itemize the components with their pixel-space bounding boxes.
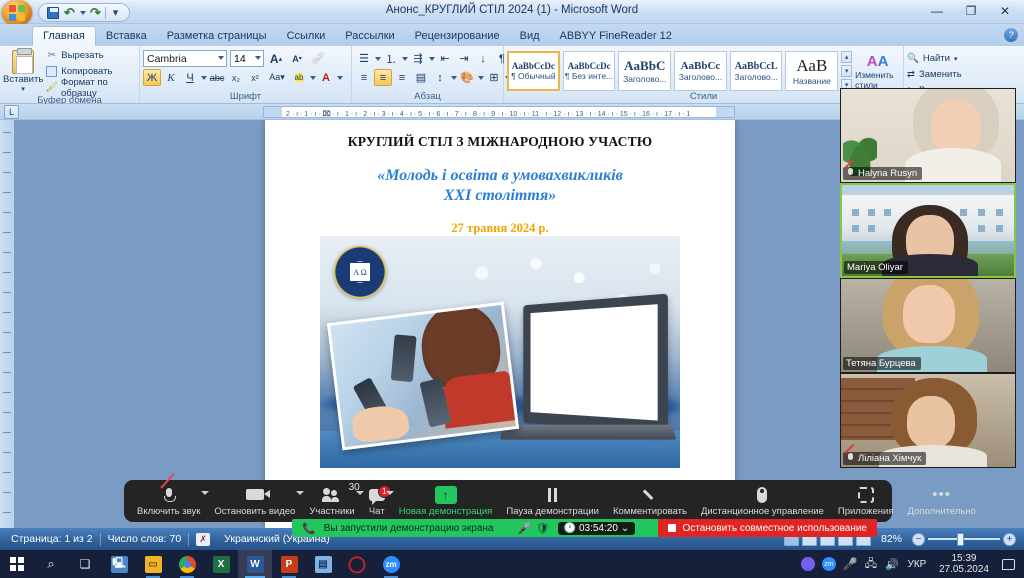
zoom-out-button[interactable]: − xyxy=(912,533,925,546)
style-title[interactable]: АаВ Название xyxy=(785,51,838,91)
ribbon-group-paragraph: ☰ ⒈ ⇶ ⇤ ⇥ ↓ ¶ ≡ ≡ ≡ xyxy=(352,46,504,103)
borders-icon[interactable]: ⊞ xyxy=(485,69,503,86)
taskbar-app-zoom[interactable]: zm xyxy=(374,550,408,578)
screen: ↶ ↷ ▾ Анонс_КРУГЛИЙ СТІЛ 2024 (1) - Micr… xyxy=(0,0,1024,578)
laptop-illustration xyxy=(506,300,674,450)
zoom-button-label: Участники xyxy=(309,506,354,517)
tab-mailings[interactable]: Рассылки xyxy=(335,27,404,46)
font-name-combo[interactable]: Cambria xyxy=(143,50,227,67)
participant-name: Mariya Oliyar xyxy=(847,262,903,273)
document-image[interactable]: A Ω xyxy=(320,236,680,468)
zoom-button-label: Чат xyxy=(369,506,385,517)
font-color-chevron-down-icon[interactable] xyxy=(336,69,343,86)
zoom-tray-icon[interactable]: zm xyxy=(820,550,838,578)
ruler-ticks: 2 · ı · 1 · ı · ⌧ · ı · 1 · ı · 2 · ı · … xyxy=(264,110,734,118)
help-icon[interactable]: ? xyxy=(1004,28,1018,42)
participant-tile-liliana-khimchuk[interactable]: Ліліана Хімчук xyxy=(840,373,1016,468)
face xyxy=(907,396,955,448)
styles-scroll-up-icon[interactable]: ▴ xyxy=(841,51,852,63)
change-styles-button[interactable]: AA Изменить стили xyxy=(855,53,900,90)
change-styles-label: Изменить стили xyxy=(855,70,900,90)
font-size-combo[interactable]: 14 xyxy=(230,50,264,67)
shield-icon[interactable]: 🛡 xyxy=(534,522,552,535)
remote-control-icon xyxy=(757,486,767,504)
align-right-icon[interactable]: ≡ xyxy=(393,69,411,86)
superscript-button[interactable]: x² xyxy=(246,69,264,86)
participant-name-badge: Ліліана Хімчук xyxy=(843,452,926,465)
subscript-button[interactable]: x₂ xyxy=(227,69,245,86)
participant-tile-mariya-oliyar[interactable]: Mariya Oliyar xyxy=(840,183,1016,278)
share-timer[interactable]: 🕐 03:54:20 ⌄ xyxy=(558,522,636,535)
ribbon-group-clipboard: Вставить ▾ ✂ Вырезать Копировать xyxy=(0,46,140,103)
copy-label: Копировать xyxy=(61,66,112,77)
replace-icon: ⇄ xyxy=(907,69,915,80)
subtitle-line-1: «Молодь і освіта в умовахвикликів xyxy=(377,167,623,184)
screen-share-status-bar: 📞 Вы запустили демонстрацию экрана 🎤 🛡 🕐… xyxy=(292,519,877,537)
participant-name-badge: Mariya Oliyar xyxy=(844,261,908,274)
highlight-color-button[interactable]: ab xyxy=(290,69,308,86)
zoom-button-apps[interactable]: Приложения xyxy=(831,480,901,522)
zoom-button-pause-share[interactable]: Пауза демонстрации xyxy=(499,480,606,522)
format-painter-button[interactable]: 🖌 Формат по образцу xyxy=(45,80,136,95)
language-indicator[interactable]: УКР xyxy=(904,550,930,578)
participants-icon xyxy=(322,486,342,504)
style-no-spacing[interactable]: AaBbCcDc ¶ Без инте... xyxy=(563,51,616,91)
zoom-button-unmute[interactable]: Включить звук xyxy=(130,480,207,522)
participant-name-badge: Тетяна Бурцева xyxy=(843,357,921,370)
style-sample: AaBbCcDc xyxy=(568,61,611,71)
font-name-chevron-down-icon xyxy=(218,56,224,60)
font-size-chevron-down-icon xyxy=(255,56,261,60)
document-date: 27 травня 2024 р. xyxy=(265,221,735,236)
zoom-in-button[interactable]: + xyxy=(1003,533,1016,546)
line-spacing-icon[interactable]: ↕ xyxy=(431,69,449,86)
align-left-icon[interactable]: ≡ xyxy=(355,69,373,86)
style-name: Заголово... xyxy=(623,74,666,84)
ribbon-tab-bar: Главная Вставка Разметка страницы Ссылки… xyxy=(0,24,1024,46)
scissors-icon: ✂ xyxy=(45,49,58,62)
document-subtitle: «Молодь і освіта в умовахвикликів XXI ст… xyxy=(265,166,735,205)
paste-button[interactable]: Вставить ▾ xyxy=(3,50,43,93)
participant-name: Halyna Rusyn xyxy=(858,168,917,179)
photo-card-smartphones xyxy=(327,302,519,451)
taskbar-app-word[interactable]: W xyxy=(238,550,272,578)
paragraph-group-title: Абзац xyxy=(355,91,500,103)
stop-share-label: Остановить совместное использование xyxy=(682,523,867,534)
bullet-list-icon[interactable]: ☰ xyxy=(355,50,373,67)
font-color-button[interactable]: A xyxy=(317,69,335,86)
find-label: Найти xyxy=(923,53,950,64)
multilevel-chevron-down-icon[interactable] xyxy=(428,50,435,67)
shrink-font-button[interactable]: A▾ xyxy=(288,50,306,67)
tab-view[interactable]: Вид xyxy=(510,27,550,46)
styles-scroll-down-icon[interactable]: ▾ xyxy=(841,65,852,77)
clock-date: 27.05.2024 xyxy=(939,564,989,575)
zoom-button-more[interactable]: ••• Дополнительно xyxy=(900,480,982,522)
maximize-button[interactable]: ❐ xyxy=(954,0,988,22)
taskbar-app-chrome[interactable] xyxy=(170,550,204,578)
taskbar-app-notepad[interactable]: ▤ xyxy=(306,550,340,578)
participant-video-strip: Halyna Rusyn Mariya Oliyar xyxy=(840,88,1016,468)
tab-review[interactable]: Рецензирование xyxy=(405,27,510,46)
find-button[interactable]: 🔍 Найти▾ xyxy=(907,51,957,66)
tab-insert[interactable]: Вставка xyxy=(96,27,157,46)
zoom-button-label: Приложения xyxy=(838,506,894,517)
clock-icon: 🕐 xyxy=(564,523,576,534)
notification-icon[interactable] xyxy=(998,550,1018,578)
style-normal[interactable]: AaBbCcDc ¶ Обычный xyxy=(507,51,560,91)
microphone-muted-icon xyxy=(164,486,174,504)
share-screen-icon: ↑ xyxy=(435,486,457,504)
style-sample: AaBbC xyxy=(624,58,665,74)
style-name: Название xyxy=(793,76,831,86)
styles-scroll[interactable]: ▴ ▾ ▾ xyxy=(841,51,852,91)
face xyxy=(903,285,955,343)
more-dots-icon: ••• xyxy=(932,486,951,504)
system-tray: zm 🎤 🖧 🔊 УКР 15:39 27.05.2024 xyxy=(799,550,1024,578)
clock-time: 15:39 xyxy=(939,553,989,564)
zoom-slider-handle[interactable] xyxy=(957,533,964,546)
font-size-value: 14 xyxy=(234,53,246,65)
zoom-button-chat[interactable]: 1 Чат xyxy=(362,480,392,522)
vertical-ruler xyxy=(0,120,14,528)
replace-label: Заменить xyxy=(919,69,962,80)
subtitle-line-2: XXI століття» xyxy=(444,187,557,204)
task-view-icon[interactable]: ❏ xyxy=(68,550,102,578)
style-heading-2[interactable]: AaBbCc Заголово... xyxy=(674,51,727,91)
style-name: Заголово... xyxy=(734,72,777,82)
align-center-icon[interactable]: ≡ xyxy=(374,69,392,86)
change-case-button[interactable]: Aa▾ xyxy=(265,69,289,86)
taskbar-app-remote-desktop[interactable]: 🖳 xyxy=(102,550,136,578)
style-heading-1[interactable]: AaBbC Заголово... xyxy=(618,51,671,91)
stop-share-button[interactable]: Остановить совместное использование xyxy=(658,519,877,537)
zoom-button-label: Дополнительно xyxy=(907,506,975,517)
style-sample: AaBbCcL xyxy=(735,61,778,72)
participant-tile-halyna-rusyn[interactable]: Halyna Rusyn xyxy=(840,88,1016,183)
timer-chevron-down-icon[interactable]: ⌄ xyxy=(621,523,629,534)
zoom-button-label: Включить звук xyxy=(137,506,200,517)
zoom-slider[interactable] xyxy=(928,533,1000,546)
taskbar-app-file-explorer[interactable]: ▭ xyxy=(136,550,170,578)
copy-icon xyxy=(45,65,58,78)
shading-icon[interactable]: 🎨 xyxy=(458,69,476,86)
face xyxy=(931,99,981,155)
zoom-button-label: Остановить видео xyxy=(214,506,295,517)
page-indicator[interactable]: Страница: 1 из 2 xyxy=(4,533,100,545)
style-name: Заголово... xyxy=(679,72,722,82)
network-icon[interactable]: 🖧 xyxy=(862,550,880,578)
university-emblem-icon: A Ω xyxy=(334,246,386,298)
numbered-list-icon[interactable]: ⒈ xyxy=(382,50,400,67)
spellcheck-icon[interactable]: ✗ xyxy=(189,533,217,546)
viber-icon[interactable] xyxy=(799,550,817,578)
taskbar-app-powerpoint[interactable]: P xyxy=(272,550,306,578)
window-controls: — ❐ ✕ xyxy=(920,0,1022,24)
line-spacing-chevron-down-icon[interactable] xyxy=(450,69,457,86)
document-page[interactable]: КРУГЛИЙ СТІЛ З МІЖНАРОДНОЮ УЧАСТЮ «Молод… xyxy=(265,120,735,528)
zoom-button-participants[interactable]: Участники 30 xyxy=(302,480,361,522)
microphone-muted-icon xyxy=(846,453,855,464)
zoom-level[interactable]: 82% xyxy=(874,533,909,545)
share-status-message: Вы запустили демонстрацию экрана xyxy=(324,523,516,534)
font-group-title: Шрифт xyxy=(143,91,348,103)
participant-name-badge: Halyna Rusyn xyxy=(843,167,922,180)
multilevel-list-icon[interactable]: ⇶ xyxy=(409,50,427,67)
phone-icon: 📞 xyxy=(292,522,324,535)
cut-button[interactable]: ✂ Вырезать xyxy=(45,48,136,63)
style-name: ¶ Обычный xyxy=(511,71,556,81)
grow-font-button[interactable]: A▴ xyxy=(267,50,285,67)
tab-page-layout[interactable]: Разметка страницы xyxy=(157,27,277,46)
zoom-button-stop-video[interactable]: Остановить видео xyxy=(207,480,302,522)
minimize-button[interactable]: — xyxy=(920,0,954,22)
window-title: Анонс_КРУГЛИЙ СТІЛ 2024 (1) - Microsoft … xyxy=(0,4,1024,16)
increase-indent-icon[interactable]: ⇥ xyxy=(455,50,473,67)
chat-icon: 1 xyxy=(369,486,385,504)
cut-label: Вырезать xyxy=(61,50,103,61)
numbering-chevron-down-icon[interactable] xyxy=(401,50,408,67)
highlight-chevron-down-icon[interactable] xyxy=(309,69,316,86)
zoom-meeting-toolbar: Включить звук Остановить видео Участники… xyxy=(124,480,892,522)
microphone-icon[interactable]: 🎤 xyxy=(516,522,534,535)
brush-icon: 🖌 xyxy=(45,81,58,94)
taskbar-app-opera[interactable]: ◯ xyxy=(340,550,374,578)
taskbar-app-excel[interactable]: X xyxy=(204,550,238,578)
windows-taskbar: ⌕ ❏ 🖳 ▭ X W P xyxy=(0,550,1024,578)
font-name-value: Cambria xyxy=(147,53,187,65)
camera-icon xyxy=(246,486,264,504)
strikethrough-button[interactable]: abc xyxy=(208,69,226,86)
bold-button[interactable]: Ж xyxy=(143,69,161,86)
style-sample: AaBbCcDc xyxy=(512,61,555,71)
volume-icon[interactable]: 🔊 xyxy=(883,550,901,578)
close-button[interactable]: ✕ xyxy=(988,0,1022,22)
tab-home[interactable]: Главная xyxy=(32,26,96,46)
microphone-tray-icon[interactable]: 🎤 xyxy=(841,550,859,578)
justify-icon[interactable]: ▤ xyxy=(412,69,430,86)
zoom-button-annotate[interactable]: Комментировать xyxy=(606,480,694,522)
style-heading-3[interactable]: AaBbCcL Заголово... xyxy=(730,51,783,91)
emblem-letters: A Ω xyxy=(349,262,371,282)
participant-name: Тетяна Бурцева xyxy=(846,358,916,369)
tab-abbyy-finereader[interactable]: ABBYY FineReader 12 xyxy=(550,27,682,46)
search-icon[interactable]: ⌕ xyxy=(34,550,68,578)
style-sample: AaBbCc xyxy=(681,60,721,72)
zoom-button-label: Пауза демонстрации xyxy=(506,506,599,517)
windows-start-icon[interactable] xyxy=(0,550,34,578)
zoom-button-label: Новая демонстрация xyxy=(399,506,493,517)
shading-chevron-down-icon[interactable] xyxy=(477,69,484,86)
bullet-chevron-down-icon[interactable] xyxy=(374,50,381,67)
underline-button[interactable]: Ч xyxy=(181,69,199,86)
pause-icon xyxy=(548,486,557,504)
zoom-button-new-share[interactable]: ↑ Новая демонстрация xyxy=(392,480,500,522)
tab-references[interactable]: Ссылки xyxy=(277,27,336,46)
title-bar: ↶ ↷ ▾ Анонс_КРУГЛИЙ СТІЛ 2024 (1) - Micr… xyxy=(0,0,1024,24)
italic-button[interactable]: К xyxy=(162,69,180,86)
binoculars-icon: 🔍 xyxy=(907,53,919,64)
sort-icon[interactable]: ↓ xyxy=(474,50,492,67)
paste-icon xyxy=(12,50,34,74)
apps-icon xyxy=(858,486,874,504)
underline-chevron-down-icon[interactable] xyxy=(200,69,207,86)
tab-selector-icon[interactable]: L xyxy=(4,105,19,119)
zoom-button-label: Дистанционное управление xyxy=(701,506,824,517)
share-timer-value: 03:54:20 xyxy=(579,523,618,534)
participant-tile-tetyana-burtseva[interactable]: Тетяна Бурцева xyxy=(840,278,1016,373)
stop-square-icon xyxy=(668,524,676,532)
zoom-button-remote-control[interactable]: Дистанционное управление xyxy=(694,480,831,522)
style-sample: АаВ xyxy=(796,56,827,76)
taskbar-clock[interactable]: 15:39 27.05.2024 xyxy=(933,553,995,575)
horizontal-ruler[interactable]: 2 · ı · 1 · ı · ⌧ · ı · 1 · ı · 2 · ı · … xyxy=(263,106,735,118)
decrease-indent-icon[interactable]: ⇤ xyxy=(436,50,454,67)
pencil-icon xyxy=(642,486,657,504)
style-name: ¶ Без инте... xyxy=(565,71,613,81)
ribbon-group-font: Cambria 14 A▴ A▾ 🩹 Ж К xyxy=(140,46,352,103)
zoom-button-label: Комментировать xyxy=(613,506,687,517)
word-count[interactable]: Число слов: 70 xyxy=(101,533,189,545)
microphone-muted-icon xyxy=(846,168,855,179)
clear-formatting-icon[interactable]: 🩹 xyxy=(309,50,327,67)
taskbar-icons: ⌕ ❏ 🖳 ▭ X W P xyxy=(0,550,408,578)
paste-label: Вставить xyxy=(3,74,43,85)
document-heading: КРУГЛИЙ СТІЛ З МІЖНАРОДНОЮ УЧАСТЮ xyxy=(265,134,735,150)
participant-name: Ліліана Хімчук xyxy=(858,453,921,464)
replace-button[interactable]: ⇄ Заменить xyxy=(907,67,962,82)
